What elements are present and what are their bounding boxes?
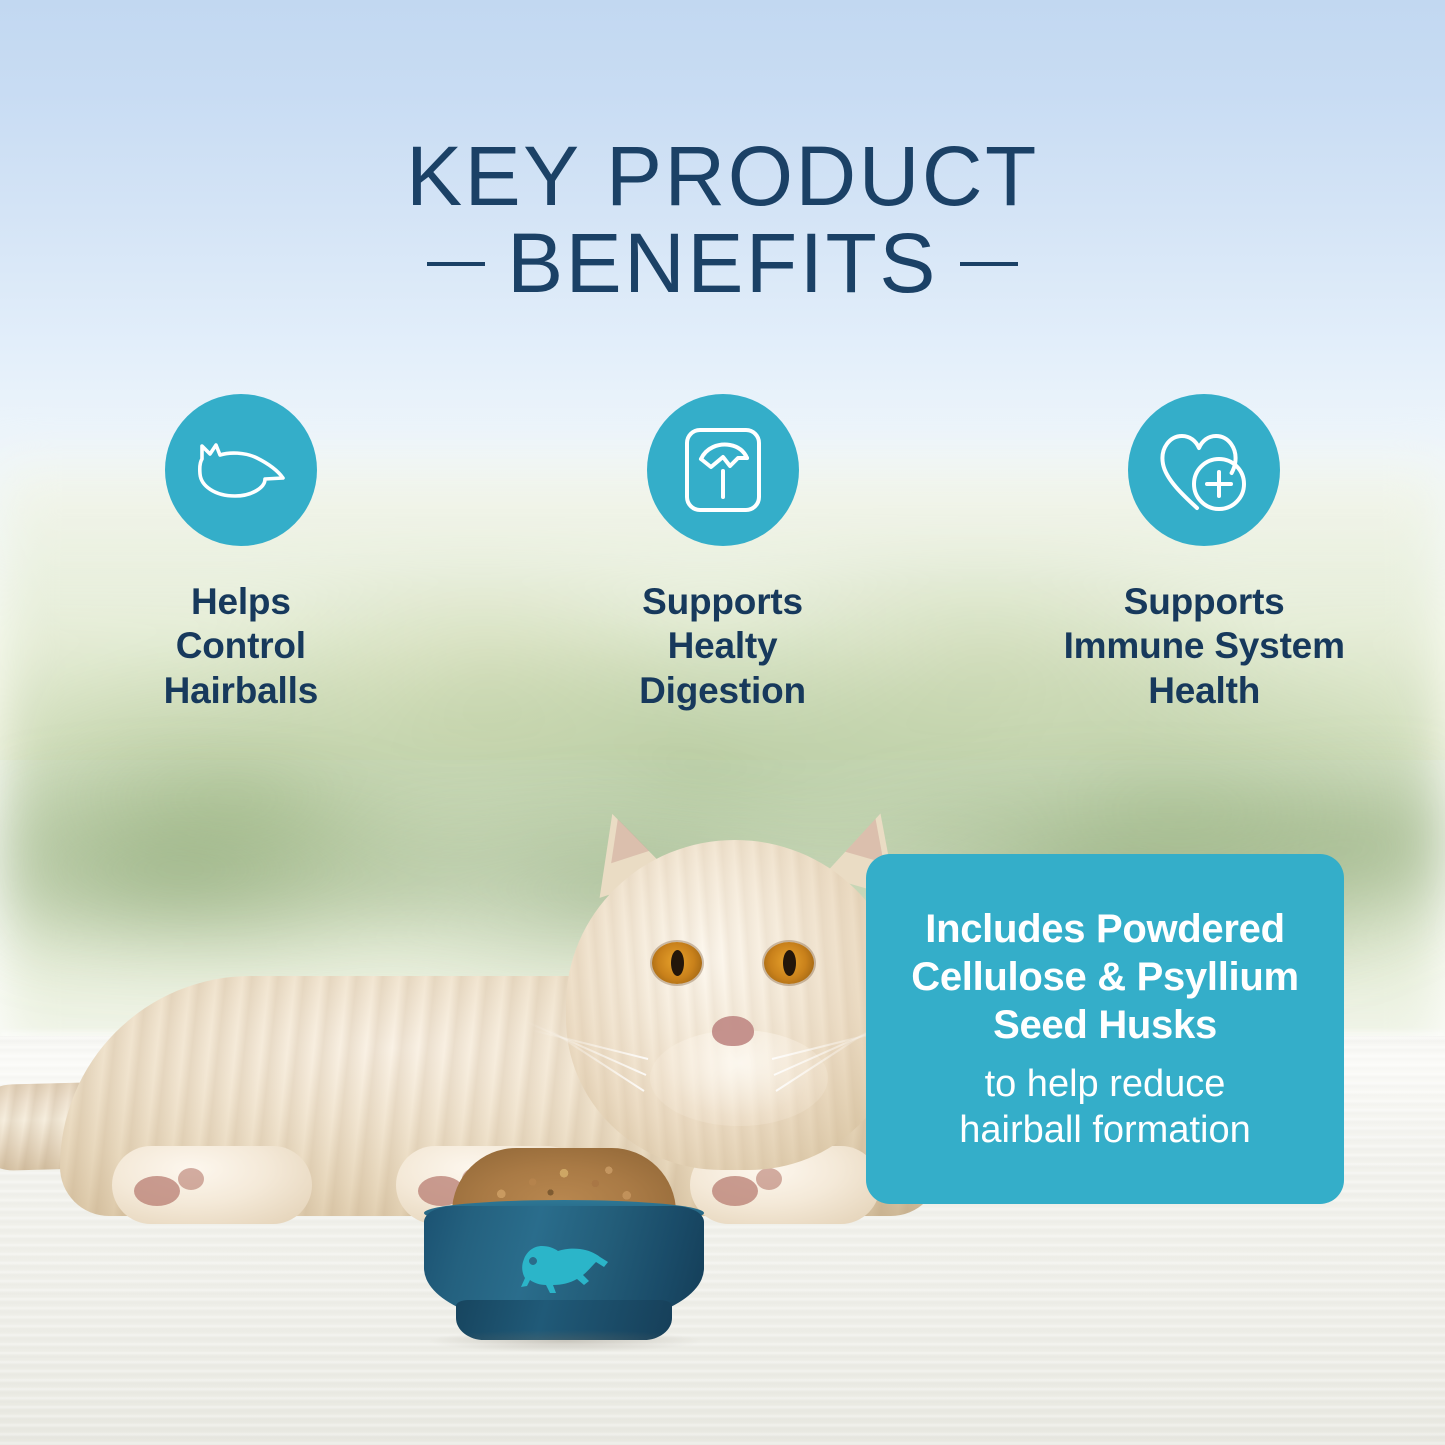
title-line-two-text: BENEFITS xyxy=(507,216,938,310)
bison-logo-icon xyxy=(512,1240,622,1298)
benefit-item-hairballs: Helps Control Hairballs xyxy=(0,394,482,713)
bowl-shadow xyxy=(430,1330,700,1352)
key-product-benefits-panel: KEY PRODUCT BENEFITS Helps Control Hairb… xyxy=(0,0,1445,1445)
benefits-row: Helps Control Hairballs Supports Healty … xyxy=(0,394,1445,713)
benefit-item-digestion: Supports Healty Digestion xyxy=(482,394,964,713)
benefit-icon-circle xyxy=(1128,394,1280,546)
callout-headline: Includes Powdered Cellulose & Psyllium S… xyxy=(911,905,1298,1049)
cat-silhouette-icon xyxy=(193,438,289,502)
benefit-icon-circle xyxy=(165,394,317,546)
benefit-label: Helps Control Hairballs xyxy=(164,580,319,713)
cat-eye-right xyxy=(764,942,814,984)
title-dash-right-icon xyxy=(960,262,1018,266)
callout-box: Includes Powdered Cellulose & Psyllium S… xyxy=(866,854,1344,1204)
title-dash-left-icon xyxy=(427,262,485,266)
heart-plus-icon xyxy=(1157,426,1251,514)
benefit-icon-circle xyxy=(647,394,799,546)
title-line-two: BENEFITS xyxy=(0,223,1445,304)
callout-subline: to help reduce hairball formation xyxy=(959,1061,1250,1154)
title-line-one: KEY PRODUCT xyxy=(0,136,1445,217)
page-title: KEY PRODUCT BENEFITS xyxy=(0,136,1445,305)
benefit-label: Supports Healty Digestion xyxy=(639,580,806,713)
cat-paw xyxy=(112,1146,312,1224)
cat-nose xyxy=(712,1016,754,1046)
benefit-item-immune: Supports Immune System Health xyxy=(963,394,1445,713)
food-bowl xyxy=(424,1148,704,1348)
cat-eye-left xyxy=(652,942,702,984)
weight-scale-icon xyxy=(682,425,764,515)
benefit-label: Supports Immune System Health xyxy=(1064,580,1345,713)
